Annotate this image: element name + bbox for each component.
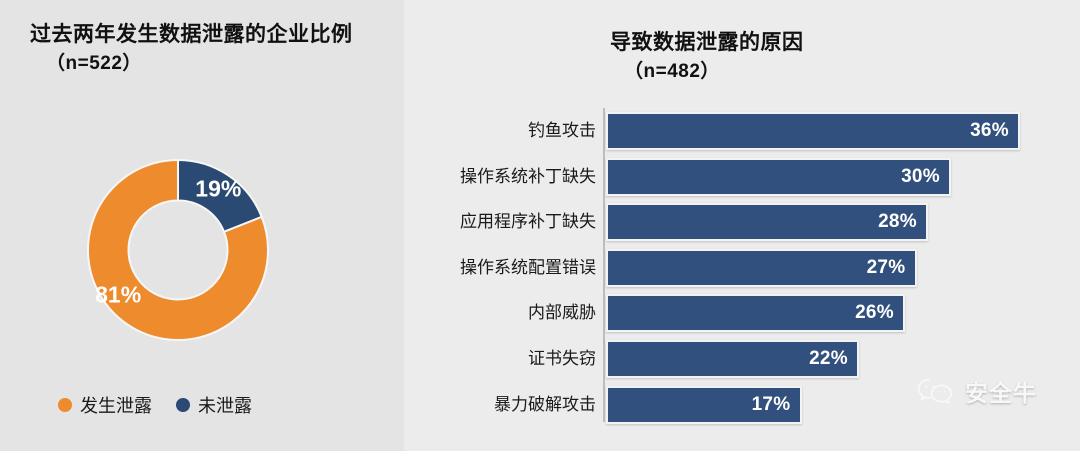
bar-row[interactable]: 26% bbox=[606, 294, 905, 332]
watermark: 安全牛 bbox=[916, 374, 1037, 408]
donut-legend: 发生泄露 未泄露 bbox=[58, 392, 266, 418]
legend-label-not-breached: 未泄露 bbox=[198, 392, 252, 418]
right-chart-title: 导致数据泄露的原因 bbox=[610, 26, 804, 56]
bar-value-label: 30% bbox=[901, 166, 949, 188]
legend-swatch-breached bbox=[58, 398, 72, 412]
watermark-text: 安全牛 bbox=[965, 374, 1037, 408]
chart-canvas: 过去两年发生数据泄露的企业比例 （n=522） 19%81% 发生泄露 未泄露 … bbox=[0, 0, 1080, 451]
bar-category-label: 应用程序补丁缺失 bbox=[460, 203, 596, 241]
bar-row[interactable]: 17% bbox=[606, 386, 802, 424]
bar-category-label: 暴力破解攻击 bbox=[494, 386, 596, 424]
legend-item-not-breached[interactable]: 未泄露 bbox=[176, 392, 252, 418]
bar-row[interactable]: 30% bbox=[606, 158, 951, 196]
bar-row[interactable]: 27% bbox=[606, 249, 917, 287]
bar-category-label: 钓鱼攻击 bbox=[528, 112, 596, 150]
bar-category-label: 内部威胁 bbox=[528, 294, 596, 332]
legend-label-breached: 发生泄露 bbox=[80, 392, 152, 418]
bar-value-label: 17% bbox=[752, 394, 800, 416]
left-chart-subtitle: （n=522） bbox=[46, 48, 142, 75]
donut-slice-value: 81% bbox=[95, 282, 141, 308]
donut-chart-svg: 19%81% bbox=[86, 158, 270, 342]
donut-slice-value: 19% bbox=[195, 176, 241, 202]
bar-category-label: 操作系统补丁缺失 bbox=[460, 158, 596, 196]
bar-value-label: 28% bbox=[878, 211, 926, 233]
bar-value-label: 22% bbox=[809, 348, 857, 370]
wechat-icon bbox=[916, 376, 956, 406]
legend-swatch-not-breached bbox=[176, 398, 190, 412]
bar-category-label: 操作系统配置错误 bbox=[460, 249, 596, 287]
bar-row[interactable]: 28% bbox=[606, 203, 928, 241]
bar-category-label: 证书失窃 bbox=[528, 340, 596, 378]
bar-category-axis: 钓鱼攻击操作系统补丁缺失应用程序补丁缺失操作系统配置错误内部威胁证书失窃暴力破解… bbox=[418, 108, 596, 422]
legend-item-breached[interactable]: 发生泄露 bbox=[58, 392, 152, 418]
bar-value-label: 36% bbox=[970, 120, 1018, 142]
bar-row[interactable]: 36% bbox=[606, 112, 1020, 150]
bar-value-label: 27% bbox=[867, 257, 915, 279]
left-chart-title: 过去两年发生数据泄露的企业比例 bbox=[30, 18, 353, 48]
right-chart-subtitle: （n=482） bbox=[624, 56, 720, 83]
bar-value-axis-line bbox=[603, 108, 605, 422]
bar-row[interactable]: 22% bbox=[606, 340, 859, 378]
bar-value-label: 26% bbox=[855, 302, 903, 324]
donut-chart: 19%81% bbox=[86, 158, 270, 342]
